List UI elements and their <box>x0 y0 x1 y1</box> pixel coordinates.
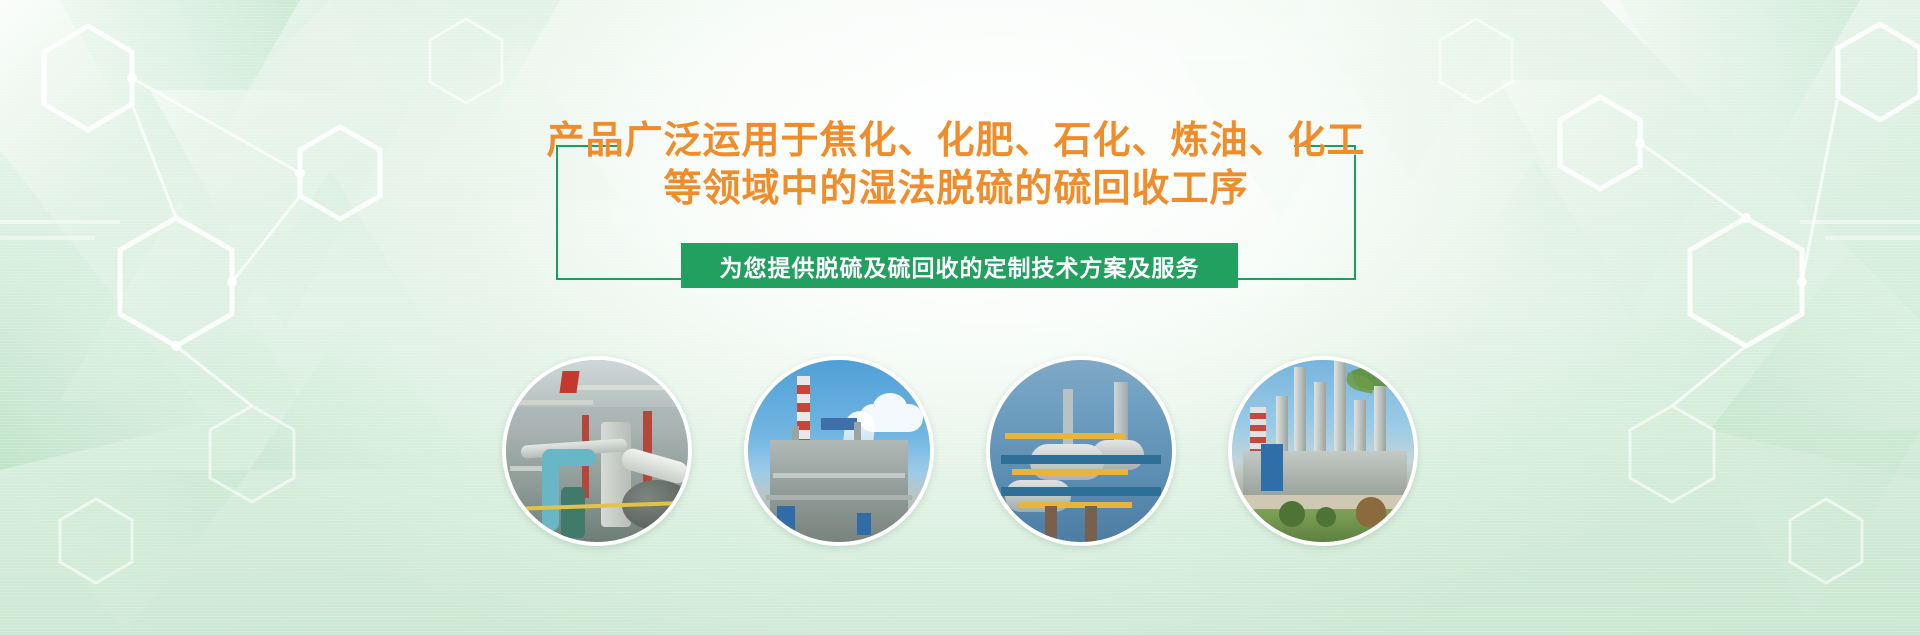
subtitle-banner: 为您提供脱硫及硫回收的定制技术方案及服务 <box>681 243 1238 288</box>
headline-text: 产品广泛运用于焦化、化肥、石化、炼油、化工 等领域中的湿法脱硫的硫回收工序 <box>544 117 1368 213</box>
photo-tank-farm <box>986 356 1176 546</box>
headline-line-2: 等领域中的湿法脱硫的硫回收工序 <box>544 165 1368 213</box>
subtitle-text: 为您提供脱硫及硫回收的定制技术方案及服务 <box>720 249 1200 283</box>
hero-banner: 产品广泛运用于焦化、化肥、石化、炼油、化工 等领域中的湿法脱硫的硫回收工序 为您… <box>0 0 1920 635</box>
photo-pipework-plant <box>502 356 692 546</box>
photo-chimney-plant <box>744 356 934 546</box>
photo-row <box>0 356 1920 556</box>
photo-refinery-towers <box>1228 356 1418 546</box>
headline-line-1: 产品广泛运用于焦化、化肥、石化、炼油、化工 <box>546 120 1365 162</box>
